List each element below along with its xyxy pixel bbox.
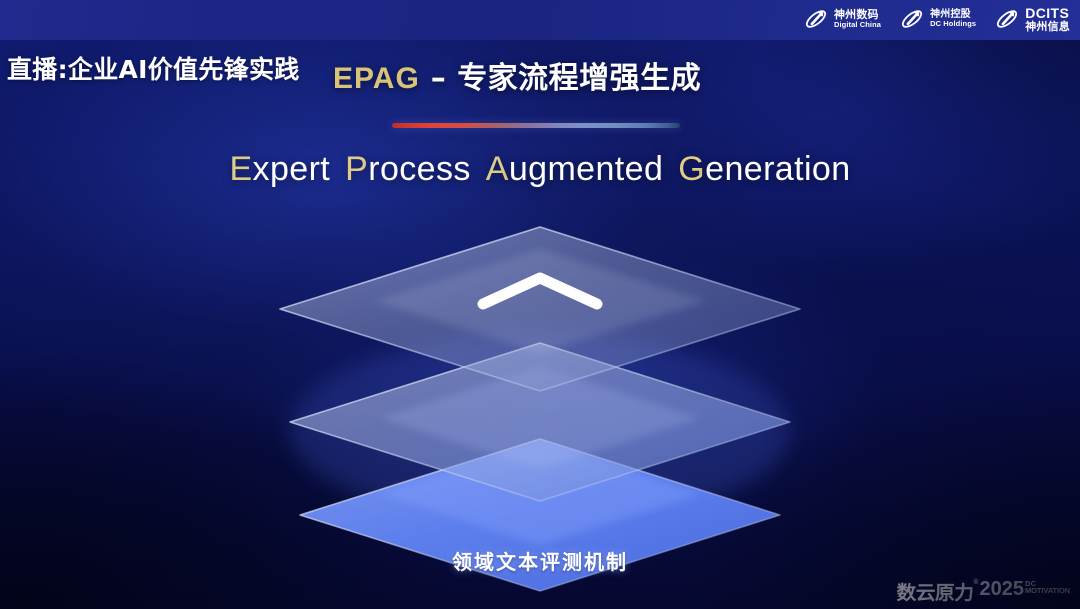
live-headline: 直播:企业AI价值先锋实践 bbox=[7, 50, 300, 86]
swirl-logo-icon bbox=[803, 6, 829, 32]
subtitle-word-generation: Generation bbox=[678, 150, 850, 188]
partner-name-en: Digital China bbox=[834, 21, 881, 29]
subtitle-word-augmented: Augmented bbox=[486, 150, 664, 188]
partner-logo-dcits: DCITS 神州信息 bbox=[994, 6, 1070, 32]
partner-name-en: DCITS bbox=[1025, 6, 1070, 21]
partner-logo-group: 神州数码 Digital China 神州控股 DC Holdings bbox=[803, 6, 1070, 32]
partner-logo-digital-china: 神州数码 Digital China bbox=[803, 6, 881, 32]
page-subtitle: ExpertProcessAugmentedGeneration bbox=[0, 150, 1080, 189]
subtitle-initial: A bbox=[486, 150, 509, 188]
subtitle-rest: rocess bbox=[368, 150, 471, 188]
page-title-cn: 专家流程增强生成 bbox=[457, 61, 701, 96]
diagram-svg bbox=[0, 215, 1080, 595]
subtitle-word-process: Process bbox=[345, 150, 471, 188]
partner-name-en: DC Holdings bbox=[930, 20, 976, 28]
subtitle-word-expert: Expert bbox=[229, 150, 330, 188]
partner-text-dc-holdings: 神州控股 DC Holdings bbox=[930, 10, 976, 28]
page-title-separator: – bbox=[420, 61, 457, 96]
subtitle-rest: ugmented bbox=[509, 150, 663, 188]
swirl-logo-icon bbox=[899, 6, 925, 32]
subtitle-rest: xpert bbox=[253, 150, 331, 188]
page-title-acronym: EPAG bbox=[333, 62, 420, 95]
gradient-divider bbox=[392, 123, 680, 128]
subtitle-initial: G bbox=[678, 150, 705, 188]
partner-name-cn: 神州信息 bbox=[1025, 21, 1070, 33]
partner-text-dcits: DCITS 神州信息 bbox=[1025, 6, 1070, 32]
subtitle-rest: eneration bbox=[705, 150, 850, 188]
page-title: EPAG – 专家流程增强生成 bbox=[333, 53, 701, 97]
partner-logo-dc-holdings: 神州控股 DC Holdings bbox=[899, 6, 976, 32]
slide-root: 数云原力 ® 2025 DC MOTIVATION 神州数码 Digital C… bbox=[0, 0, 1080, 609]
partner-text-digital-china: 神州数码 Digital China bbox=[834, 9, 881, 28]
subtitle-initial: P bbox=[345, 150, 368, 188]
layered-architecture-diagram: 领域文本评测机制 Dynamic MOE 长文本记忆 三类语义建模模块 bbox=[0, 215, 1080, 595]
swirl-logo-icon bbox=[994, 6, 1020, 32]
subtitle-initial: E bbox=[229, 150, 252, 188]
